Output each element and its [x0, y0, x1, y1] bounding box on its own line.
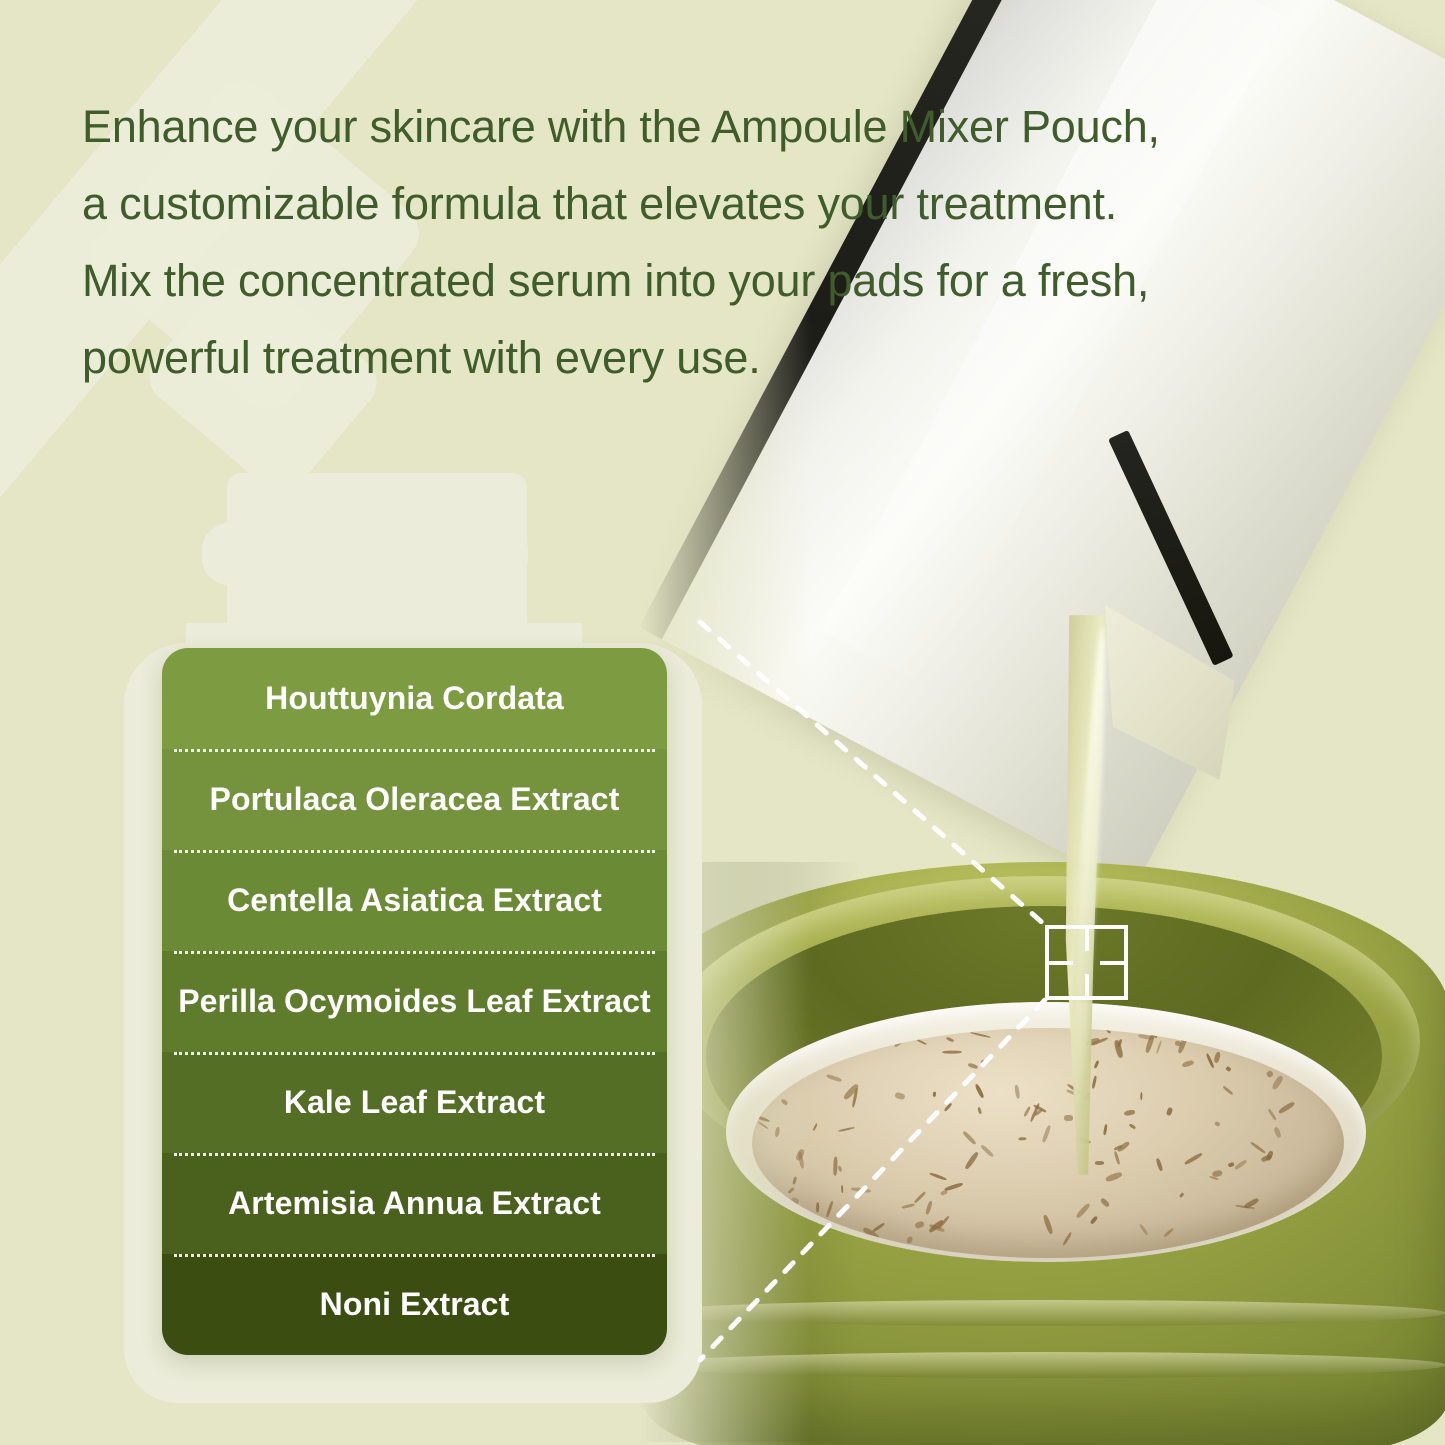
ingredient-row: Artemisia Annua Extract — [162, 1153, 667, 1254]
herb-fleck — [942, 1051, 962, 1054]
herb-fleck — [1139, 1092, 1142, 1100]
ingredient-row: Houttuynia Cordata — [162, 648, 667, 749]
herb-flecked-essence — [752, 1028, 1344, 1258]
herb-fleck — [945, 1037, 953, 1043]
herb-fleck — [1215, 1121, 1221, 1127]
ingredient-label: Perilla Ocymoides Leaf Extract — [178, 983, 651, 1020]
herb-fleck — [1104, 1171, 1122, 1183]
ingredient-row: Perilla Ocymoides Leaf Extract — [162, 951, 667, 1052]
herb-fleck — [1214, 1051, 1221, 1063]
herb-fleck — [970, 1032, 991, 1039]
reticle-tick-right — [1100, 961, 1126, 965]
herb-fleck — [873, 1223, 886, 1233]
herb-fleck — [838, 1126, 855, 1132]
focus-reticle — [1045, 925, 1128, 1000]
herb-fleck — [1123, 1109, 1135, 1116]
herb-fleck — [974, 1084, 984, 1099]
reticle-tick-bottom — [1085, 974, 1089, 998]
herb-fleck — [851, 1186, 872, 1193]
herb-fleck — [877, 1165, 885, 1176]
herb-fleck — [1268, 1108, 1277, 1120]
herb-fleck — [1181, 1060, 1194, 1069]
herb-fleck — [944, 1103, 953, 1112]
ingredient-row: Portulaca Oleracea Extract — [162, 749, 667, 850]
ingredient-row: Kale Leaf Extract — [162, 1052, 667, 1153]
herb-fleck — [1129, 1123, 1137, 1129]
herb-fleck — [1075, 1203, 1091, 1220]
herb-fleck — [1042, 1125, 1051, 1143]
herb-fleck — [1092, 1075, 1097, 1088]
herb-fleck — [925, 1200, 933, 1215]
herb-fleck — [1166, 1107, 1173, 1116]
ingredient-label: Noni Extract — [320, 1286, 510, 1323]
herb-fleck — [1164, 1228, 1175, 1238]
herb-fleck — [1278, 1100, 1296, 1114]
herb-fleck — [1024, 1106, 1032, 1117]
herb-fleck — [812, 1123, 817, 1131]
herb-fleck — [914, 1191, 926, 1203]
herb-fleck — [914, 1221, 925, 1229]
herb-fleck — [1017, 1136, 1026, 1140]
herb-fleck — [916, 1038, 927, 1045]
ingredient-list: Houttuynia CordataPortulaca Oleracea Ext… — [162, 648, 667, 1355]
herb-fleck — [1223, 1085, 1234, 1095]
ingredient-row: Centella Asiatica Extract — [162, 850, 667, 951]
herb-fleck — [1015, 1085, 1021, 1100]
herb-fleck — [1064, 1115, 1073, 1121]
marketing-banner: Enhance your skincare with the Ampoule M… — [0, 0, 1445, 1445]
herb-fleck — [933, 1091, 936, 1096]
reticle-tick-top — [1085, 927, 1089, 951]
herb-fleck — [977, 1107, 982, 1115]
herb-fleck — [980, 1144, 995, 1158]
herb-fleck — [1094, 1060, 1099, 1068]
ingredient-row: Noni Extract — [162, 1254, 667, 1355]
herb-fleck — [1103, 1124, 1108, 1135]
herb-fleck — [1156, 1158, 1164, 1172]
herb-fleck — [906, 1236, 913, 1245]
herb-fleck — [1095, 1161, 1104, 1165]
herb-fleck — [1234, 1159, 1247, 1170]
ingredient-label: Centella Asiatica Extract — [227, 882, 602, 919]
herb-fleck — [838, 1166, 843, 1172]
herb-fleck — [1179, 1193, 1185, 1199]
herb-fleck — [1226, 1066, 1232, 1072]
herb-fleck — [1113, 1039, 1123, 1057]
page-title: Enhance your skincare with the Ampoule M… — [82, 88, 1402, 396]
herb-fleck — [962, 1130, 977, 1145]
herb-fleck — [1062, 1231, 1072, 1245]
herb-fleck — [841, 1185, 844, 1193]
herb-fleck — [941, 1190, 948, 1196]
herb-fleck — [968, 1062, 979, 1069]
herb-fleck — [1138, 1224, 1148, 1237]
herb-fleck — [1271, 1075, 1284, 1091]
herb-fleck — [1116, 1140, 1131, 1153]
ingredient-label: Kale Leaf Extract — [284, 1084, 545, 1121]
herb-fleck — [1266, 1070, 1274, 1078]
herb-fleck — [826, 1074, 842, 1083]
herb-fleck — [1043, 1214, 1055, 1235]
herb-fleck — [1265, 1151, 1274, 1162]
ingredient-label: Houttuynia Cordata — [265, 680, 564, 717]
ingredient-label: Portulaca Oleracea Extract — [210, 781, 620, 818]
herb-fleck — [929, 1172, 947, 1181]
herb-fleck — [964, 1151, 979, 1170]
herb-fleck — [817, 1203, 820, 1213]
herb-fleck — [981, 1059, 987, 1066]
herb-fleck — [894, 1092, 905, 1100]
herb-fleck — [1183, 1152, 1203, 1166]
reticle-tick-left — [1047, 961, 1073, 965]
ingredient-label: Artemisia Annua Extract — [228, 1185, 601, 1222]
herb-fleck — [825, 1201, 833, 1218]
herb-fleck — [1099, 1197, 1110, 1208]
herb-fleck — [1273, 1126, 1282, 1138]
herb-fleck — [1250, 1141, 1266, 1154]
herb-fleck — [902, 1204, 915, 1210]
herb-fleck — [1089, 1215, 1098, 1225]
herb-fleck — [1113, 1151, 1120, 1165]
herb-fleck — [1156, 1040, 1162, 1054]
